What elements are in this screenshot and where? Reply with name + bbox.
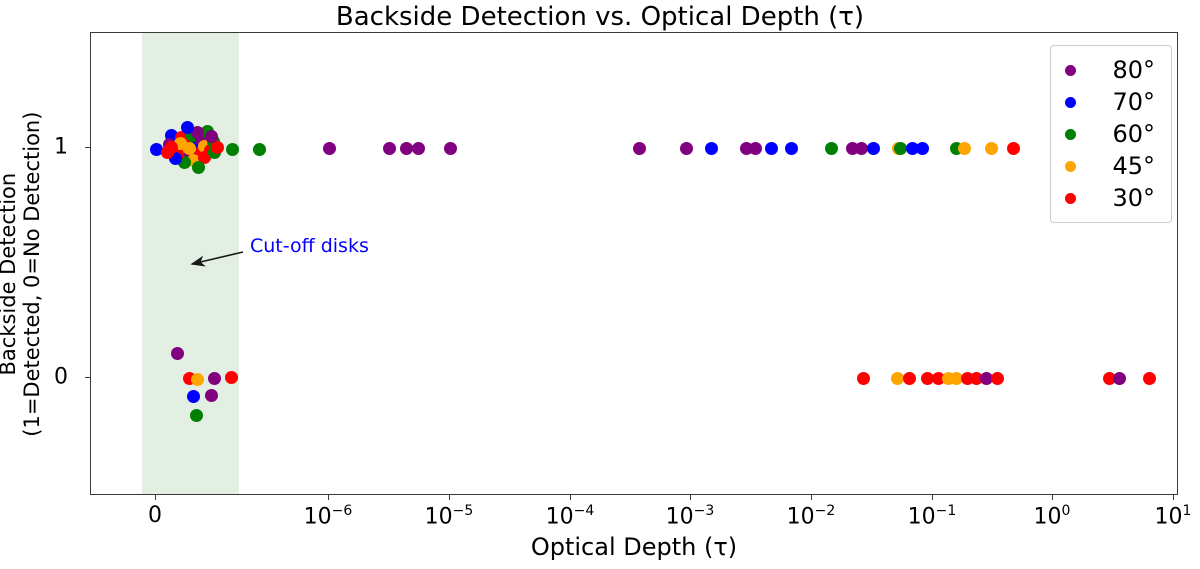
legend-label: 60° — [1076, 120, 1165, 148]
x-tick-mark — [328, 495, 329, 500]
x-tick-label: 10−3 — [666, 503, 715, 529]
data-point — [633, 142, 646, 155]
x-axis-title: Optical Depth (τ) — [90, 533, 1178, 561]
legend-swatch-icon — [1065, 129, 1076, 140]
legend-item-60deg[interactable]: 60° — [1057, 118, 1165, 150]
x-tick-label: 10−4 — [546, 503, 595, 529]
x-tick-label: 10−2 — [787, 503, 836, 529]
data-point — [171, 347, 184, 360]
legend-label: 80° — [1076, 56, 1165, 84]
data-point — [205, 389, 218, 402]
x-tick-mark — [155, 495, 156, 500]
data-point — [855, 142, 868, 155]
data-point — [916, 142, 929, 155]
legend-item-70deg[interactable]: 70° — [1057, 86, 1165, 118]
y-axis-title: Backside Detection (1=Detected, 0=No Det… — [0, 34, 44, 514]
x-tick-label: 10−6 — [304, 503, 353, 529]
x-tick-mark — [811, 495, 812, 500]
y-tick-label: 1 — [54, 135, 68, 160]
legend-swatch-icon — [1065, 193, 1076, 204]
y-axis-title-line1: Backside Detection — [0, 34, 20, 514]
data-point — [211, 141, 224, 154]
data-point — [253, 143, 266, 156]
legend-label: 70° — [1076, 88, 1165, 116]
data-point — [190, 409, 203, 422]
data-point — [680, 142, 693, 155]
data-point — [383, 142, 396, 155]
legend-item-30deg[interactable]: 30° — [1057, 182, 1165, 214]
data-point — [323, 142, 336, 155]
y-tick-mark — [85, 147, 90, 148]
plot-area — [90, 32, 1178, 495]
data-point — [903, 372, 916, 385]
x-tick-label: 10−1 — [908, 503, 957, 529]
data-point — [1143, 372, 1156, 385]
data-point — [412, 142, 425, 155]
x-tick-label: 100 — [1034, 503, 1071, 529]
data-point — [444, 142, 457, 155]
data-point — [226, 143, 239, 156]
data-point — [165, 141, 178, 154]
data-point — [749, 142, 762, 155]
legend-item-45deg[interactable]: 45° — [1057, 150, 1165, 182]
legend-item-80deg[interactable]: 80° — [1057, 54, 1165, 86]
data-point — [867, 142, 880, 155]
data-point — [958, 142, 971, 155]
data-point — [400, 142, 413, 155]
data-point — [181, 121, 194, 134]
scatter-plot-figure: Backside Detection vs. Optical Depth (τ)… — [0, 0, 1200, 569]
legend-swatch-icon — [1065, 161, 1076, 172]
legend-label: 45° — [1076, 152, 1165, 180]
data-point — [891, 372, 904, 385]
x-tick-mark — [690, 495, 691, 500]
data-point — [991, 372, 1004, 385]
data-point — [191, 373, 204, 386]
data-point — [192, 161, 205, 174]
data-point — [1007, 142, 1020, 155]
data-point — [825, 142, 838, 155]
legend-label: 30° — [1076, 184, 1165, 212]
data-point — [894, 142, 907, 155]
x-tick-label: 101 — [1155, 503, 1192, 529]
data-point — [705, 142, 718, 155]
data-point — [985, 142, 998, 155]
y-tick-label: 0 — [54, 365, 68, 390]
y-axis-title-line2: (1=Detected, 0=No Detection) — [20, 34, 44, 514]
legend[interactable]: 80°70°60°45°30° — [1050, 45, 1172, 223]
legend-swatch-icon — [1065, 65, 1076, 76]
data-point — [785, 142, 798, 155]
x-tick-mark — [449, 495, 450, 500]
cutoff-disks-annotation-label: Cut-off disks — [250, 235, 369, 257]
x-tick-mark — [1173, 495, 1174, 500]
data-point — [225, 371, 238, 384]
x-tick-mark — [570, 495, 571, 500]
data-point — [765, 142, 778, 155]
data-point — [187, 390, 200, 403]
x-tick-label: 10−5 — [425, 503, 474, 529]
cutoff-region-shading — [142, 33, 239, 494]
page-title: Backside Detection vs. Optical Depth (τ) — [0, 2, 1200, 32]
legend-swatch-icon — [1065, 97, 1076, 108]
x-tick-mark — [932, 495, 933, 500]
y-tick-mark — [85, 377, 90, 378]
data-point — [1113, 372, 1126, 385]
x-tick-mark — [1052, 495, 1053, 500]
data-point — [208, 372, 221, 385]
x-tick-label: 0 — [148, 503, 162, 528]
data-point — [857, 372, 870, 385]
